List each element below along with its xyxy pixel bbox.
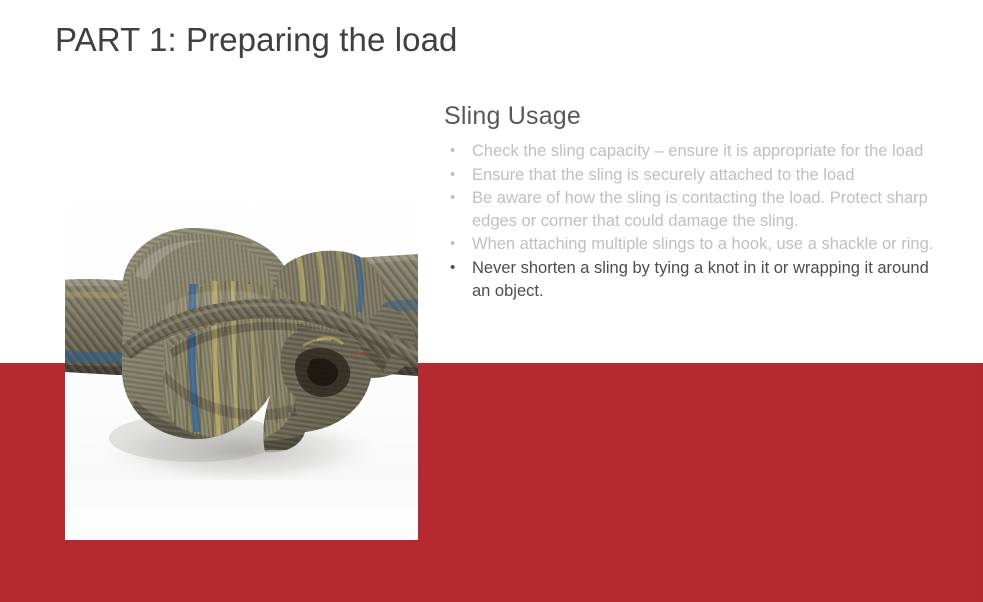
- list-item: • Be aware of how the sling is contactin…: [444, 187, 940, 232]
- red-accent-band-edge: [975, 363, 983, 602]
- list-item-emphasized: • Never shorten a sling by tying a knot …: [444, 257, 940, 302]
- bullet-marker-icon: •: [450, 140, 455, 163]
- bullet-marker-icon: •: [450, 187, 455, 210]
- list-item-text: When attaching multiple slings to a hook…: [472, 235, 933, 253]
- content-heading: Sling Usage: [444, 100, 940, 132]
- list-item-text: Be aware of how the sling is contacting …: [472, 189, 928, 230]
- bullet-marker-icon: •: [450, 233, 455, 256]
- bullet-marker-icon: •: [450, 257, 455, 280]
- slide-canvas: PART 1: Preparing the load: [0, 0, 983, 602]
- sling-usage-bullet-list: • Check the sling capacity – ensure it i…: [444, 140, 940, 302]
- slide-title: PART 1: Preparing the load: [55, 18, 935, 62]
- list-item: • Ensure that the sling is securely atta…: [444, 164, 940, 187]
- content-column: Sling Usage • Check the sling capacity –…: [444, 100, 940, 303]
- knotted-sling-photo: [65, 180, 418, 540]
- list-item-text: Check the sling capacity – ensure it is …: [472, 142, 923, 160]
- list-item: • When attaching multiple slings to a ho…: [444, 233, 940, 256]
- bullet-marker-icon: •: [450, 164, 455, 187]
- list-item-text: Never shorten a sling by tying a knot in…: [472, 259, 929, 300]
- list-item-text: Ensure that the sling is securely attach…: [472, 166, 854, 184]
- list-item: • Check the sling capacity – ensure it i…: [444, 140, 940, 163]
- knotted-sling-illustration: [65, 180, 418, 540]
